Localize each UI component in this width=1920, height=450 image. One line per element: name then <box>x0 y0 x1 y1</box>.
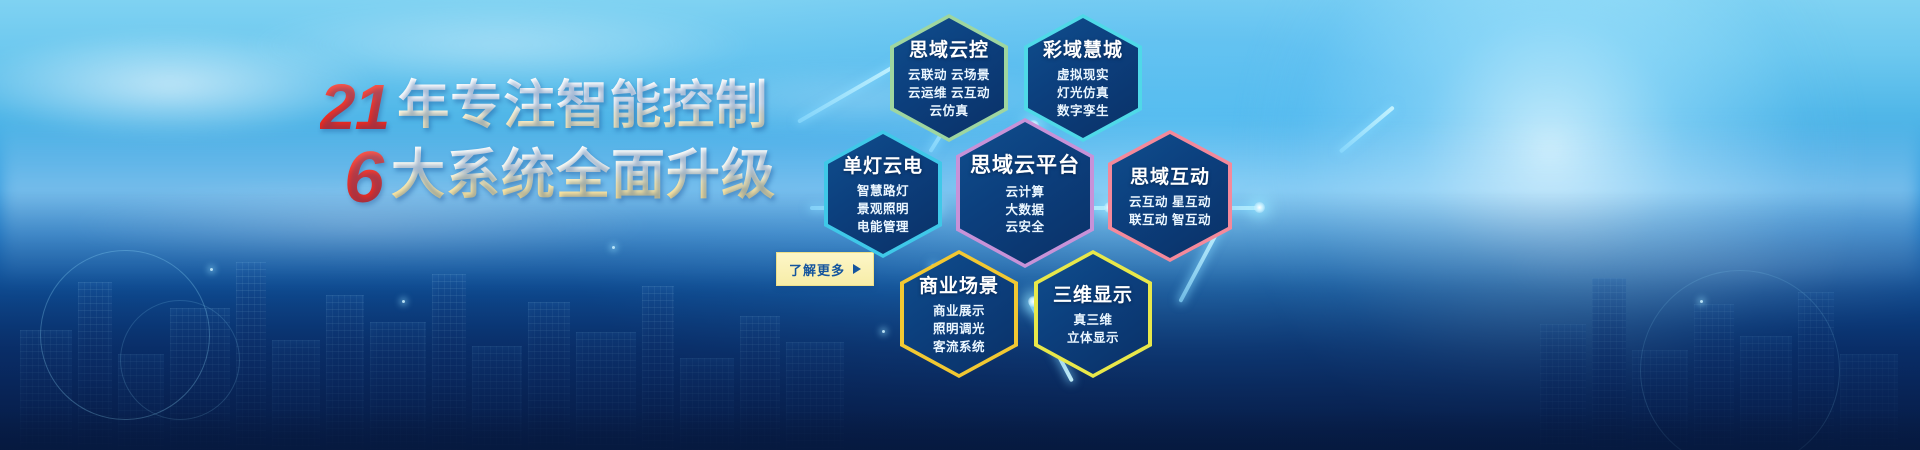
hexagon-item: 灯光仿真 <box>1057 85 1109 103</box>
hexagon-item: 景观照明 <box>857 201 909 219</box>
systems-number: 6 <box>344 138 391 218</box>
hexagon-title: 思域互动 <box>1130 162 1210 189</box>
hexagon-title: 商业场景 <box>919 271 999 298</box>
hexagon-item: 电能管理 <box>857 219 909 237</box>
hexagon-items: 云计算 大数据 云安全 <box>1005 184 1044 237</box>
hexagon-title: 思域云控 <box>909 35 989 62</box>
hexagon-cluster: 思域云控 云联动 云场景 云运维 云互动 云仿真 彩域慧城 虚拟现实 灯光仿真 … <box>780 0 1920 450</box>
hexagon-item: 真三维 <box>1067 312 1119 330</box>
hexagon-item: 联互动 智互动 <box>1129 212 1211 230</box>
hexagon-title: 思域云平台 <box>970 149 1080 179</box>
hexagon-item: 商业展示 <box>933 303 985 321</box>
hexagon-title: 彩域慧城 <box>1043 35 1123 62</box>
hexagon-item: 数字孪生 <box>1057 103 1109 121</box>
hexagon-item: 云运维 云互动 <box>908 85 990 103</box>
hexagon-items: 云联动 云场景 云运维 云互动 云仿真 <box>908 67 990 120</box>
hero-copy: 21年专注智能控制 6大系统全面升级 了解更多 <box>0 0 830 450</box>
hexagon-item: 立体显示 <box>1067 330 1119 348</box>
hexagon-items: 虚拟现实 灯光仿真 数字孪生 <box>1057 67 1109 120</box>
hexagon-commercial-scene[interactable]: 商业场景 商业展示 照明调光 客流系统 <box>900 250 1018 378</box>
hexagon-item: 云联动 云场景 <box>908 67 990 85</box>
hexagon-items: 云互动 星互动 联互动 智互动 <box>1129 194 1211 230</box>
hexagon-item: 客流系统 <box>933 339 985 357</box>
hexagon-item: 智慧路灯 <box>857 183 909 201</box>
headline-line-1-text: 年专注智能控制 <box>397 77 768 135</box>
hexagon-title: 三维显示 <box>1053 280 1133 307</box>
hexagon-item: 虚拟现实 <box>1057 67 1109 85</box>
hexagon-item: 云互动 星互动 <box>1129 194 1211 212</box>
hexagon-caiyu-smart-city[interactable]: 彩域慧城 虚拟现实 灯光仿真 数字孪生 <box>1024 14 1142 142</box>
hexagon-item: 云安全 <box>1005 219 1044 237</box>
headline-line-2-text: 大系统全面升级 <box>391 145 776 205</box>
hexagon-items: 真三维 立体显示 <box>1067 312 1119 348</box>
hexagon-item: 大数据 <box>1005 202 1044 220</box>
hexagon-item: 云仿真 <box>908 103 990 121</box>
hexagon-title: 单灯云电 <box>843 151 923 178</box>
hexagon-item: 照明调光 <box>933 321 985 339</box>
hexagon-three-d-display[interactable]: 三维显示 真三维 立体显示 <box>1034 250 1152 378</box>
headline-line-2: 6大系统全面升级 <box>344 130 776 219</box>
hero-banner: 21年专注智能控制 6大系统全面升级 了解更多 思域云控 <box>0 0 1920 450</box>
hexagon-single-lamp-cloud[interactable]: 单灯云电 智慧路灯 景观照明 电能管理 <box>824 130 942 258</box>
hexagon-items: 商业展示 照明调光 客流系统 <box>933 303 985 356</box>
hexagon-siyu-cloud-control[interactable]: 思域云控 云联动 云场景 云运维 云互动 云仿真 <box>890 14 1008 142</box>
hexagon-item: 云计算 <box>1005 184 1044 202</box>
hexagon-siyu-cloud-platform[interactable]: 思域云平台 云计算 大数据 云安全 <box>956 118 1094 268</box>
hexagon-items: 智慧路灯 景观照明 电能管理 <box>857 183 909 236</box>
